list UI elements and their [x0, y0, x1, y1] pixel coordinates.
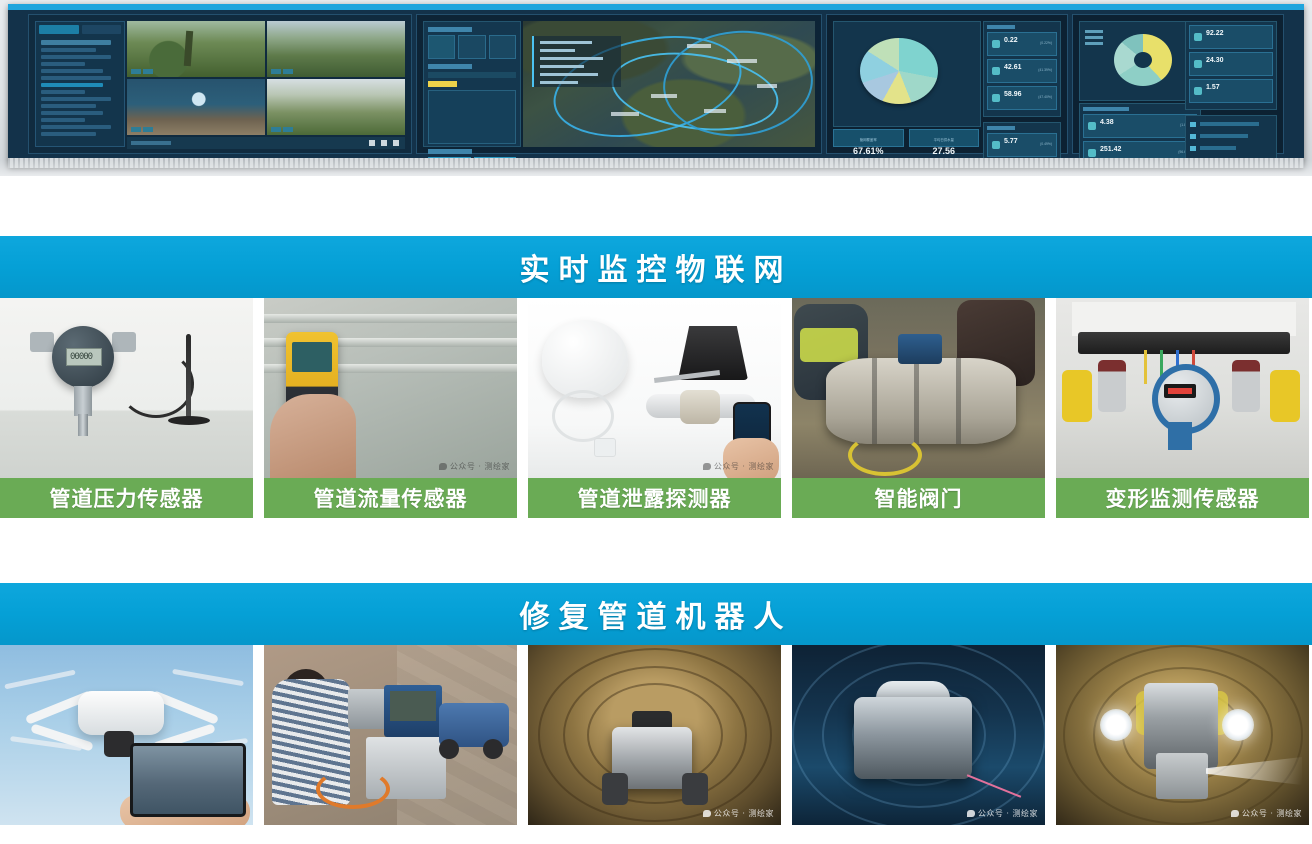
- metric-group-c: 92.22 24.30 1.57: [1185, 21, 1277, 147]
- camera-grid: [127, 21, 405, 135]
- metric-value: 1.57: [1206, 84, 1220, 91]
- gis-side-panel: [423, 21, 521, 147]
- product-label: 智能阀门: [875, 483, 963, 513]
- product-label: 管道压力传感器: [50, 483, 204, 513]
- tree-node[interactable]: [41, 118, 85, 122]
- metric-percent: (47.40%): [1038, 95, 1052, 99]
- product-card-cctv-crawler-ops[interactable]: [264, 645, 517, 825]
- section-title: 修复管道机器人: [520, 592, 793, 636]
- product-card-smart-valve[interactable]: 智能阀门: [792, 298, 1045, 518]
- gis-satellite-map[interactable]: [523, 21, 815, 147]
- kpi-caption: 平均日供水量: [910, 137, 979, 142]
- camera-tile[interactable]: [267, 79, 405, 135]
- metric-icon: [1088, 149, 1096, 157]
- panel-title: [428, 27, 472, 32]
- metric-icon: [992, 94, 1000, 102]
- product-label: 变形监测传感器: [1106, 483, 1260, 513]
- metric-row: 4.38 (1.87%): [1083, 114, 1197, 138]
- kpi-card: 27.56 平均日供水量: [909, 129, 980, 147]
- product-image-inspection-drone: [0, 645, 253, 825]
- product-caption-bar: 管道泄露探测器: [528, 478, 781, 518]
- product-image-flow-sensor: 公众号 · 测绘家: [264, 298, 517, 478]
- metric-icon: [992, 67, 1000, 75]
- panel-title: [428, 64, 472, 69]
- product-card-jetting-robot[interactable]: 公众号 · 测绘家: [1056, 645, 1309, 825]
- product-image-cctv-crawler-ops: [264, 645, 517, 825]
- product-card-pipe-crawler[interactable]: 公众号 · 测绘家: [528, 645, 781, 825]
- page-root: 67.61% 管网覆盖率 27.56 平均日供水量 0.22 (0.22%): [0, 0, 1312, 844]
- tree-search-field[interactable]: [41, 40, 111, 45]
- metric-row: 92.22: [1189, 25, 1273, 49]
- product-caption-bar: 管道流量传感器: [264, 478, 517, 518]
- watermark: 公众号 · 测绘家: [439, 461, 510, 472]
- camera-tile[interactable]: [267, 21, 405, 77]
- tree-node[interactable]: [41, 48, 96, 52]
- kpi-cards: 67.61% 管网覆盖率 27.56 平均日供水量: [833, 129, 979, 147]
- tab-patrol[interactable]: [82, 25, 122, 34]
- metric-row: 1.57: [1189, 79, 1273, 103]
- product-card-pressure-sensor[interactable]: 管道压力传感器: [0, 298, 253, 518]
- donut-chart: [1114, 34, 1172, 86]
- tree-node[interactable]: [41, 125, 111, 129]
- product-caption-bar: 智能阀门: [792, 478, 1045, 518]
- section-title: 实时监控物联网: [520, 245, 793, 289]
- metric-icon: [992, 40, 1000, 48]
- metric-lists: 0.22 (0.22%) 42.61 (41.39%) 58.96 (47.40…: [983, 21, 1061, 147]
- metric-row: 24.30: [1189, 52, 1273, 76]
- list-badge: [428, 81, 457, 87]
- metric-row: 58.96 (47.40%): [987, 86, 1057, 110]
- list-header: [428, 72, 516, 78]
- metric-icon: [1088, 122, 1096, 130]
- wechat-icon: [439, 463, 447, 470]
- product-image-leak-detector: 公众号 · 测绘家: [528, 298, 781, 478]
- kpi-value: 27.56: [910, 146, 979, 156]
- metric-value: 4.38: [1100, 119, 1114, 126]
- metric-icon: [1194, 87, 1202, 95]
- product-card-grid: 公众号 · 测绘家 公众号 · 测绘家: [0, 645, 1312, 825]
- metric-value: 42.61: [1004, 64, 1022, 71]
- section-repair-robots: 修复管道机器人: [0, 583, 1312, 825]
- kpi-card: 67.61% 管网覆盖率: [833, 129, 904, 147]
- kpi-caption: 管网覆盖率: [834, 137, 903, 142]
- product-label: 管道流量传感器: [314, 483, 468, 513]
- tree-node[interactable]: [41, 90, 85, 94]
- watermark-text: 公众号 · 测绘家: [1242, 808, 1302, 819]
- product-image-jetting-robot: 公众号 · 测绘家: [1056, 645, 1309, 825]
- product-card-leak-detector[interactable]: 公众号 · 测绘家 管道泄露探测器: [528, 298, 781, 518]
- metric-group-a: 0.22 (0.22%) 42.61 (41.39%) 58.96 (47.40…: [983, 21, 1061, 117]
- analytics-panel-b: 4.38 (1.87%) 251.42 (96.69%) 6.04 (2.31%…: [1072, 14, 1284, 154]
- tree-node[interactable]: [41, 104, 96, 108]
- product-image-pressure-sensor: [0, 298, 253, 478]
- watermark-text: 公众号 · 测绘家: [714, 808, 774, 819]
- metric-row: 42.61 (41.39%): [987, 59, 1057, 83]
- watermark: 公众号 · 测绘家: [1231, 808, 1302, 819]
- metric-percent: (0.22%): [1040, 41, 1052, 45]
- camera-tile[interactable]: [127, 79, 265, 135]
- map-info-tooltip: [532, 36, 622, 86]
- section-header-bar: 实时监控物联网: [0, 236, 1312, 298]
- section-iot-monitoring: 实时监控物联网 管道压力传感器: [0, 236, 1312, 518]
- metric-value: 5.77: [1004, 138, 1018, 145]
- product-image-cutter-robot: 公众号 · 测绘家: [792, 645, 1045, 825]
- tree-node[interactable]: [41, 132, 96, 136]
- product-card-flow-sensor[interactable]: 公众号 · 测绘家 管道流量传感器: [264, 298, 517, 518]
- chart-legend: [1085, 30, 1103, 48]
- analytics-panel-a: 67.61% 管网覆盖率 27.56 平均日供水量 0.22 (0.22%): [826, 14, 1068, 154]
- metric-value: 0.22: [1004, 37, 1018, 44]
- tree-node[interactable]: [41, 69, 103, 73]
- metric-value: 251.42: [1100, 146, 1121, 153]
- product-image-pipe-crawler: 公众号 · 测绘家: [528, 645, 781, 825]
- metric-percent: (0.49%): [1040, 142, 1052, 146]
- product-caption-bar: 管道压力传感器: [0, 478, 253, 518]
- wechat-icon: [703, 810, 711, 817]
- metric-value: 58.96: [1004, 91, 1022, 98]
- camera-tile[interactable]: [127, 21, 265, 77]
- tree-node-selected[interactable]: [41, 83, 103, 87]
- gis-map-panel: [416, 14, 822, 154]
- camera-toolbar[interactable]: [127, 137, 405, 149]
- watermark: 公众号 · 测绘家: [967, 808, 1038, 819]
- pie-chart: [860, 38, 938, 104]
- tree-node[interactable]: [41, 111, 103, 115]
- metric-value: 24.30: [1206, 57, 1224, 64]
- product-card-inspection-drone[interactable]: [0, 645, 253, 825]
- section-header-bar: 修复管道机器人: [0, 583, 1312, 645]
- tree-node[interactable]: [41, 76, 111, 80]
- wechat-icon: [703, 463, 711, 470]
- headlight-icon: [1222, 709, 1254, 741]
- camera-tree-sidebar: [35, 21, 125, 147]
- alarm-summary-cards: [428, 35, 516, 59]
- watermark-text: 公众号 · 测绘家: [714, 461, 774, 472]
- dashboard-bottom-fade: [0, 160, 1312, 176]
- dashboard-banner-image: 67.61% 管网覆盖率 27.56 平均日供水量 0.22 (0.22%): [0, 0, 1312, 176]
- product-caption-bar: 变形监测传感器: [1056, 478, 1309, 518]
- metric-value: 92.22: [1206, 30, 1224, 37]
- wechat-icon: [967, 810, 975, 817]
- watermark: 公众号 · 测绘家: [703, 808, 774, 819]
- alarm-list[interactable]: [428, 90, 516, 144]
- product-image-smart-valve: [792, 298, 1045, 478]
- wechat-icon: [1231, 810, 1239, 817]
- product-card-grid: 管道压力传感器 公众号 · 测绘家 管道流量传感器: [0, 298, 1312, 518]
- metric-icon: [1194, 33, 1202, 41]
- metric-icon: [1194, 60, 1202, 68]
- dashboard-top-accent-bar: [8, 4, 1304, 10]
- dashboard-screen-wall: 67.61% 管网覆盖率 27.56 平均日供水量 0.22 (0.22%): [8, 4, 1304, 168]
- kpi-value: 67.61%: [834, 146, 903, 156]
- tab-live-monitor[interactable]: [39, 25, 79, 34]
- product-card-deformation-sensor[interactable]: 变形监测传感器: [1056, 298, 1309, 518]
- camera-tree-tabs: [36, 22, 124, 37]
- metric-row: 0.22 (0.22%): [987, 32, 1057, 56]
- watermark-text: 公众号 · 测绘家: [450, 461, 510, 472]
- watermark-text: 公众号 · 测绘家: [978, 808, 1038, 819]
- product-image-deformation-sensor: [1056, 298, 1309, 478]
- metric-row: 5.77 (0.49%): [987, 133, 1057, 157]
- video-surveillance-panel: [28, 14, 412, 154]
- panel-title: [428, 149, 472, 154]
- pie-chart-card: [833, 21, 981, 127]
- tree-node[interactable]: [41, 97, 111, 101]
- watermark: 公众号 · 测绘家: [703, 461, 774, 472]
- metric-percent: (41.39%): [1038, 68, 1052, 72]
- metric-group-d: 4.38 (1.87%) 251.42 (96.69%) 6.04 (2.31%…: [1079, 103, 1201, 147]
- tree-node[interactable]: [41, 62, 85, 66]
- product-label: 管道泄露探测器: [578, 483, 732, 513]
- metric-icon: [992, 141, 1000, 149]
- tree-node[interactable]: [41, 55, 111, 59]
- headlight-icon: [1100, 709, 1132, 741]
- product-card-cutter-robot[interactable]: 公众号 · 测绘家: [792, 645, 1045, 825]
